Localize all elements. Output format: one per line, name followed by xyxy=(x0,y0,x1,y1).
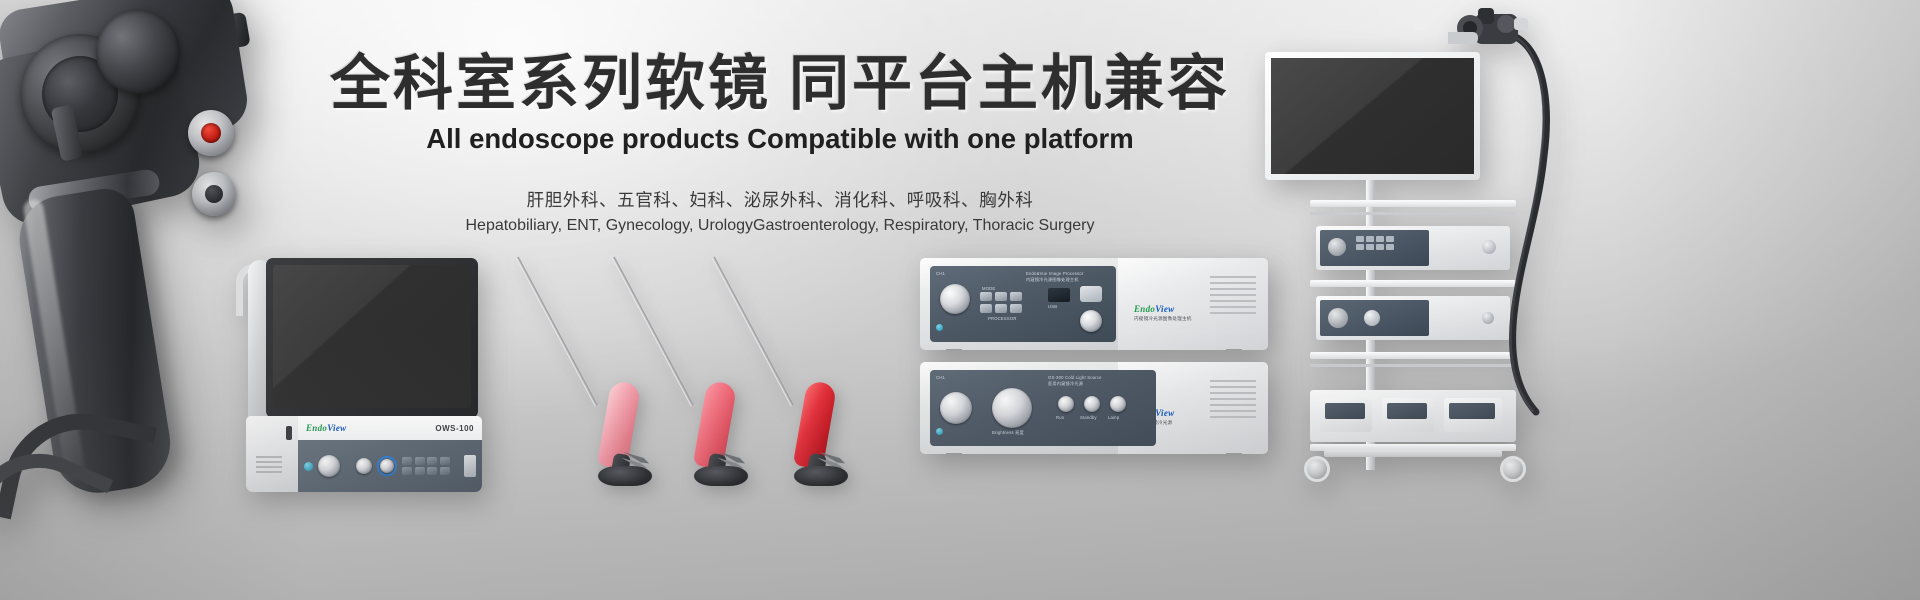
processor-button xyxy=(995,304,1007,313)
processor-front-panel: CH1 Endo&Vue Image Processor 内窥镜冷光源图像处理主… xyxy=(930,266,1116,342)
lightsource-brightness-knob xyxy=(992,388,1032,428)
workstation-key xyxy=(427,467,437,475)
endoscope-function-button xyxy=(192,172,236,216)
forceps-base xyxy=(794,466,848,486)
processor-button xyxy=(980,292,992,301)
endoscope-record-button xyxy=(188,110,234,156)
workstation-model-label: OWS-100 xyxy=(435,424,474,433)
workstation-display-screen xyxy=(273,265,471,408)
processor-panel-sub-label: PROCESSOR xyxy=(988,316,1017,321)
workstation-key xyxy=(427,457,437,465)
endoscopy-tower-cart xyxy=(1290,40,1540,560)
processor-title-en: Endo&Vue Image Processor xyxy=(1026,271,1083,276)
image-processor-unit: EndoView 内窥镜冷光源图像处理主机 CH1 Endo&Vue Image… xyxy=(920,258,1268,350)
lightsource-status-led xyxy=(936,428,943,435)
processor-connector xyxy=(1080,286,1102,302)
processor-channel-label: CH1 xyxy=(936,271,945,276)
lightsource-title-en: OS-300 Cold Light Source xyxy=(1048,375,1102,380)
processor-foot xyxy=(1226,349,1242,350)
processor-foot xyxy=(946,349,962,350)
cart-accessory-box-2 xyxy=(1382,398,1434,432)
headline-chinese-part2: 同平台主机兼容 xyxy=(789,50,1230,117)
light-source-unit: EndoView 医用内窥镜冷光源 CH1 OS-300 Cold Light … xyxy=(920,362,1268,454)
workstation-key xyxy=(402,467,412,475)
forceps-shaft xyxy=(612,257,694,407)
workstation-ows100: EndoView OWS-100 xyxy=(228,248,490,492)
headline-block: 全科室系列软镜同平台主机兼容 All endoscope products Co… xyxy=(330,52,1230,235)
lightsource-button-run xyxy=(1058,396,1074,412)
workstation-key xyxy=(415,467,425,475)
processor-usb-label: USB xyxy=(1048,304,1057,309)
lightsource-button-standby xyxy=(1084,396,1100,412)
workstation-knob-3-highlight xyxy=(377,456,397,476)
cart-module-keypad xyxy=(1356,236,1394,250)
workstation-brand-logo: EndoView xyxy=(306,423,346,433)
instrument-forceps-red xyxy=(712,258,852,488)
cart-module-knob xyxy=(1328,238,1346,256)
headline-chinese-part1: 全科室系列软镜 xyxy=(330,50,771,117)
workstation-key xyxy=(415,457,425,465)
processor-brand-subtitle: 内窥镜冷光源图像处理主机 xyxy=(1134,316,1192,322)
marketing-banner: 全科室系列软镜同平台主机兼容 All endoscope products Co… xyxy=(0,0,1920,600)
processor-right-panel: EndoView 内窥镜冷光源图像处理主机 xyxy=(1118,258,1268,350)
processor-status-led xyxy=(936,324,943,331)
processor-button xyxy=(995,292,1007,301)
processor-secondary-knob xyxy=(1080,310,1102,332)
processor-button xyxy=(1010,304,1022,313)
forceps-shaft xyxy=(516,257,598,407)
processor-usb-port xyxy=(1048,288,1070,302)
lightsource-button-lamp xyxy=(1110,396,1126,412)
processor-mode-label: MODE xyxy=(982,286,995,291)
workstation-knob-2 xyxy=(356,458,372,474)
hanging-endoscope xyxy=(1440,40,1540,470)
subtitle-chinese: 肝胆外科、五官科、妇科、泌尿外科、消化科、呼吸科、胸外科 xyxy=(330,187,1230,212)
workstation-keypad xyxy=(402,457,450,476)
lightsource-vent-grille xyxy=(1210,380,1256,382)
lightsource-button-label-run: Run xyxy=(1056,415,1064,420)
cart-accessory-box-1 xyxy=(1320,398,1372,432)
workstation-side-panel xyxy=(246,416,298,492)
workstation-knob-1 xyxy=(318,455,340,477)
processor-stack: EndoView 内窥镜冷光源图像处理主机 CH1 Endo&Vue Image… xyxy=(920,258,1268,458)
subtitle-english: Hepatobiliary, ENT, Gynecology, UrologyG… xyxy=(330,217,1230,235)
workstation-power-indicator xyxy=(304,462,313,471)
headline-english: All endoscope products Compatible with o… xyxy=(330,123,1230,155)
lightsource-foot xyxy=(946,453,962,454)
workstation-card-slot xyxy=(286,426,292,440)
lightsource-title-cn: 医用内窥镜冷光源 xyxy=(1048,381,1083,387)
lightsource-foot xyxy=(1226,453,1242,454)
processor-button xyxy=(1010,292,1022,301)
workstation-side-button xyxy=(464,455,476,477)
workstation-control-panel xyxy=(298,440,482,492)
workstation-key xyxy=(440,457,450,465)
processor-button-grid xyxy=(980,292,1022,313)
headline-chinese: 全科室系列软镜同平台主机兼容 xyxy=(330,52,1230,117)
workstation-brand-strip: EndoView OWS-100 xyxy=(298,416,482,440)
workstation-key xyxy=(440,467,450,475)
workstation-monitor-bezel xyxy=(266,258,478,418)
processor-title-cn: 内窥镜冷光源图像处理主机 xyxy=(1026,277,1079,283)
lightsource-front-panel: CH1 OS-300 Cold Light Source 医用内窥镜冷光源 Br… xyxy=(930,370,1156,446)
cart-module-dial xyxy=(1364,310,1380,326)
workstation-base-unit: EndoView OWS-100 xyxy=(246,416,482,492)
lightsource-brightness-label: Brightness 亮度 xyxy=(992,430,1024,436)
processor-brand-logo: EndoView xyxy=(1134,304,1174,314)
lightsource-port-knob xyxy=(940,392,972,424)
processor-main-knob xyxy=(940,284,970,314)
forceps-shaft xyxy=(712,257,794,407)
processor-vent-grille xyxy=(1210,276,1256,278)
cart-caster-left xyxy=(1304,456,1330,482)
workstation-vent-grille xyxy=(256,456,282,458)
lightsource-button-label-standby: Standby xyxy=(1080,415,1097,420)
processor-button xyxy=(980,304,992,313)
workstation-key xyxy=(402,457,412,465)
cart-module-knob xyxy=(1328,308,1348,328)
lightsource-channel-label: CH1 xyxy=(936,375,945,380)
lightsource-button-label-lamp: Lamp xyxy=(1108,415,1119,420)
